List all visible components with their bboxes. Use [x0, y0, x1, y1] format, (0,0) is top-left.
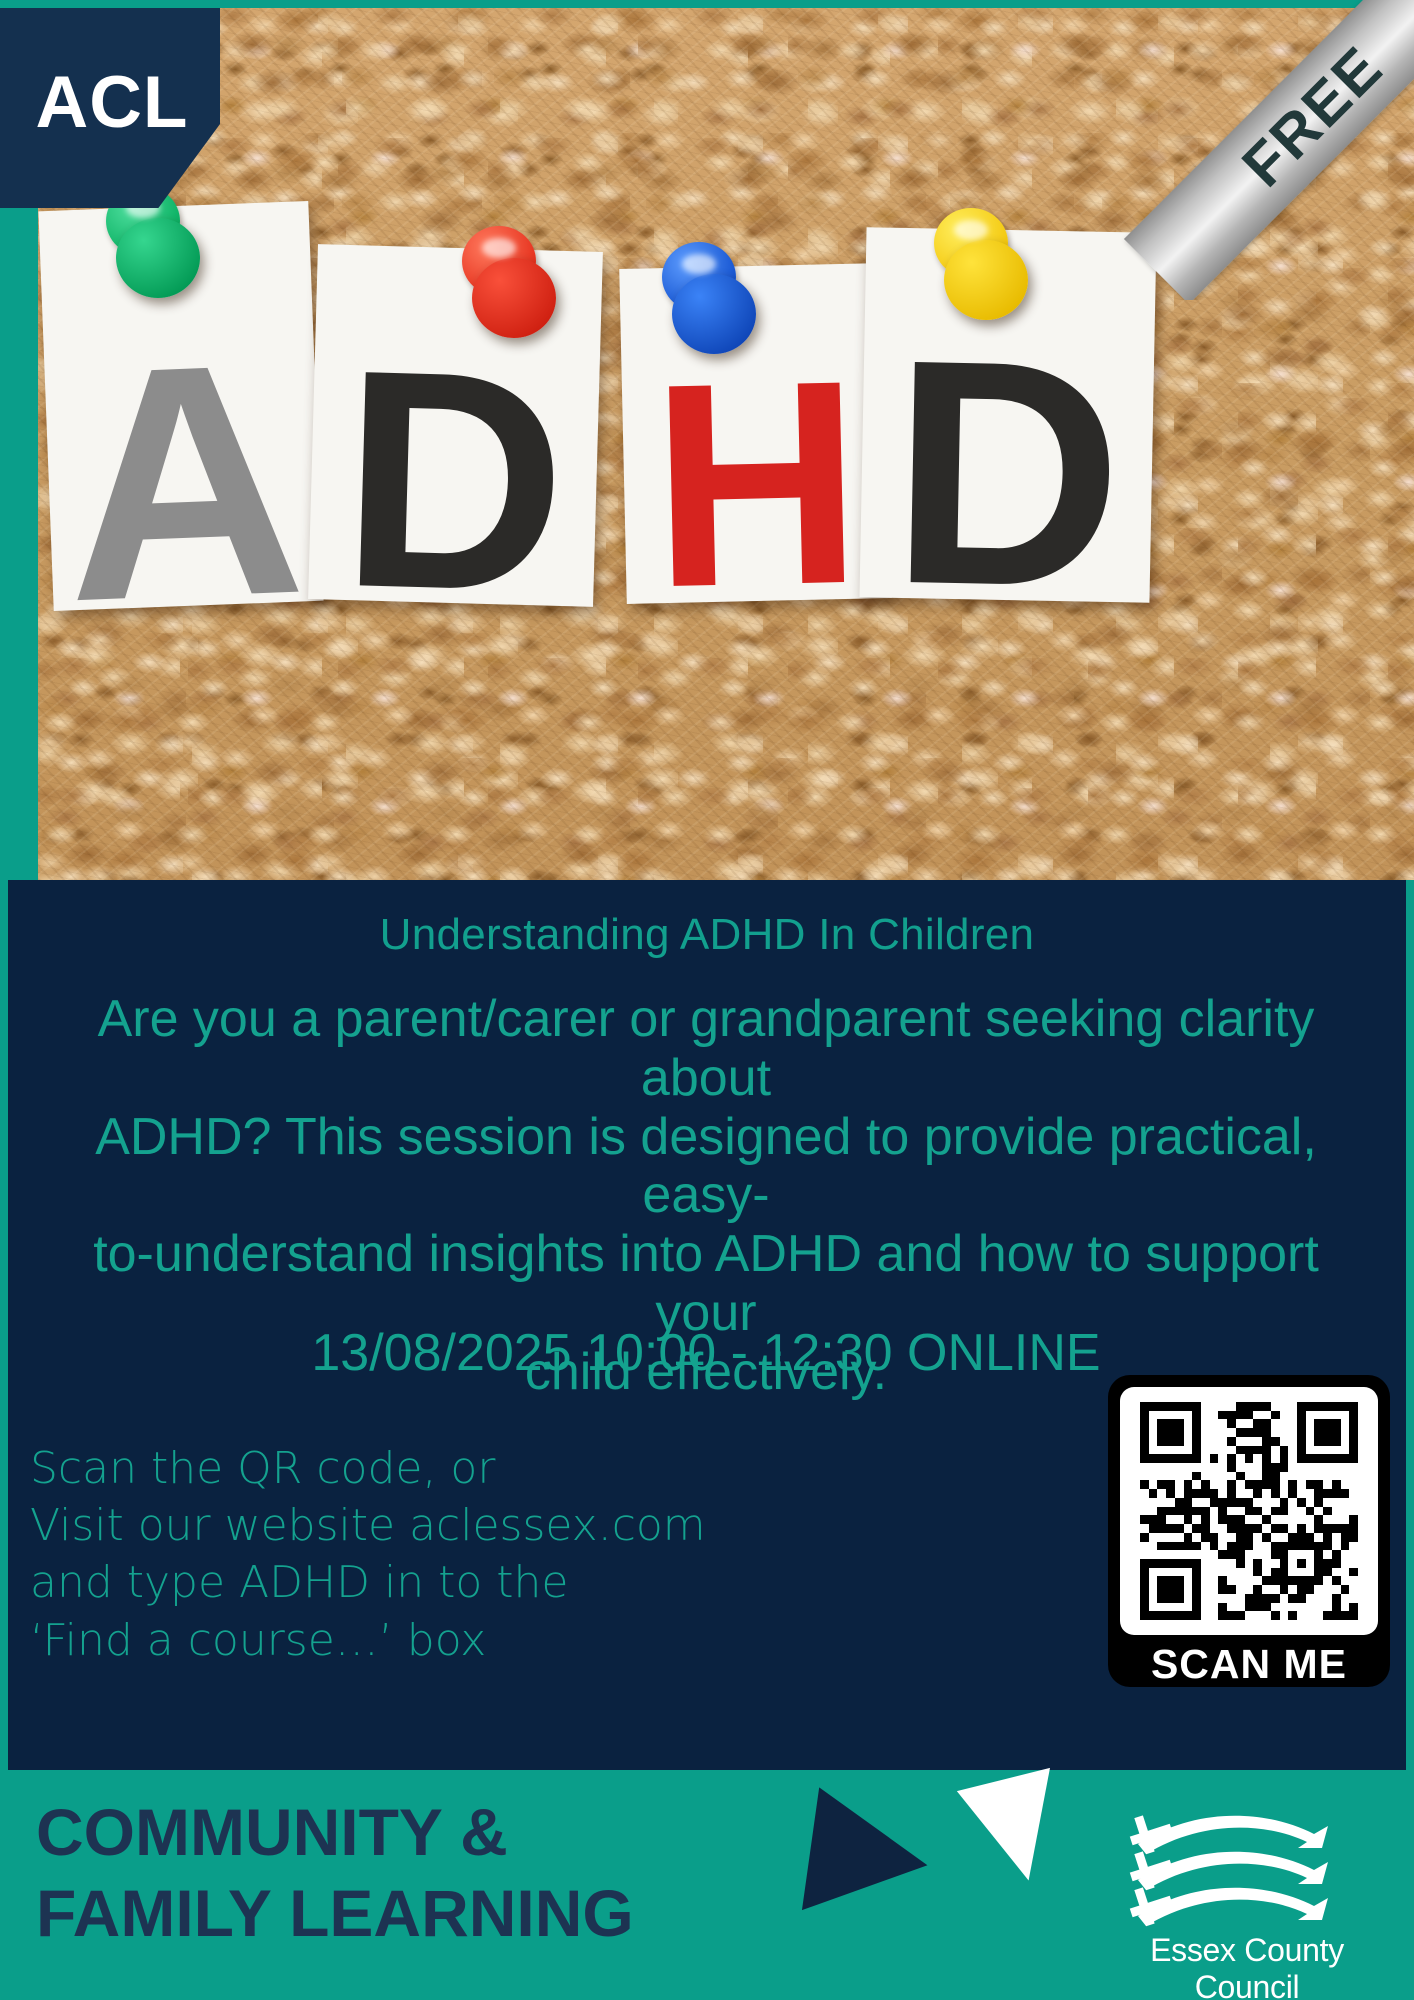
qr-scan-me-caption: SCAN ME: [1151, 1644, 1347, 1685]
course-description-line-2: ADHD? This session is designed to provid…: [95, 1108, 1317, 1225]
footer-title-line-1: COMMUNITY &: [36, 1792, 634, 1873]
qr-code-block[interactable]: SCAN ME: [1108, 1375, 1390, 1687]
howto-line-1: Scan the QR code, or: [30, 1440, 706, 1497]
howto-line-2: Visit our website aclessex.com: [30, 1497, 706, 1554]
course-description-line-1: Are you a parent/carer or grandparent se…: [98, 990, 1315, 1107]
essex-county-council-name: Essex County Council: [1102, 1932, 1392, 2000]
qr-code-image[interactable]: [1120, 1387, 1378, 1635]
footer-title: COMMUNITY & FAMILY LEARNING: [36, 1792, 634, 1953]
essex-county-council-logo: Essex County Council: [1102, 1800, 1392, 1985]
footer-title-line-2: FAMILY LEARNING: [36, 1873, 634, 1954]
letter-card-d-first: D: [308, 244, 603, 607]
letter-d-second: D: [889, 337, 1125, 603]
poster-root: A D H D ACL FREE Unders: [0, 0, 1414, 2000]
qr-code-matrix: [1140, 1402, 1358, 1620]
acl-logo-text: ACL: [35, 61, 188, 144]
howto-line-4: ‘Find a course…’ box: [30, 1612, 706, 1669]
letter-a: A: [59, 338, 308, 611]
course-date-time: 13/08/2025 10:00 - 12:30 ONLINE: [38, 1323, 1374, 1383]
letter-h: H: [649, 361, 864, 604]
letter-d-first: D: [338, 348, 569, 607]
decorative-navy-triangle-icon: [802, 1787, 936, 1926]
essex-council-waves-icon: [1102, 1800, 1392, 1930]
hero-photo: A D H D: [38, 8, 1414, 880]
course-title: Understanding ADHD In Children: [8, 910, 1406, 960]
howto-line-3: and type ADHD in to the: [30, 1554, 706, 1611]
how-to-book-instructions: Scan the QR code, or Visit our website a…: [30, 1440, 706, 1669]
